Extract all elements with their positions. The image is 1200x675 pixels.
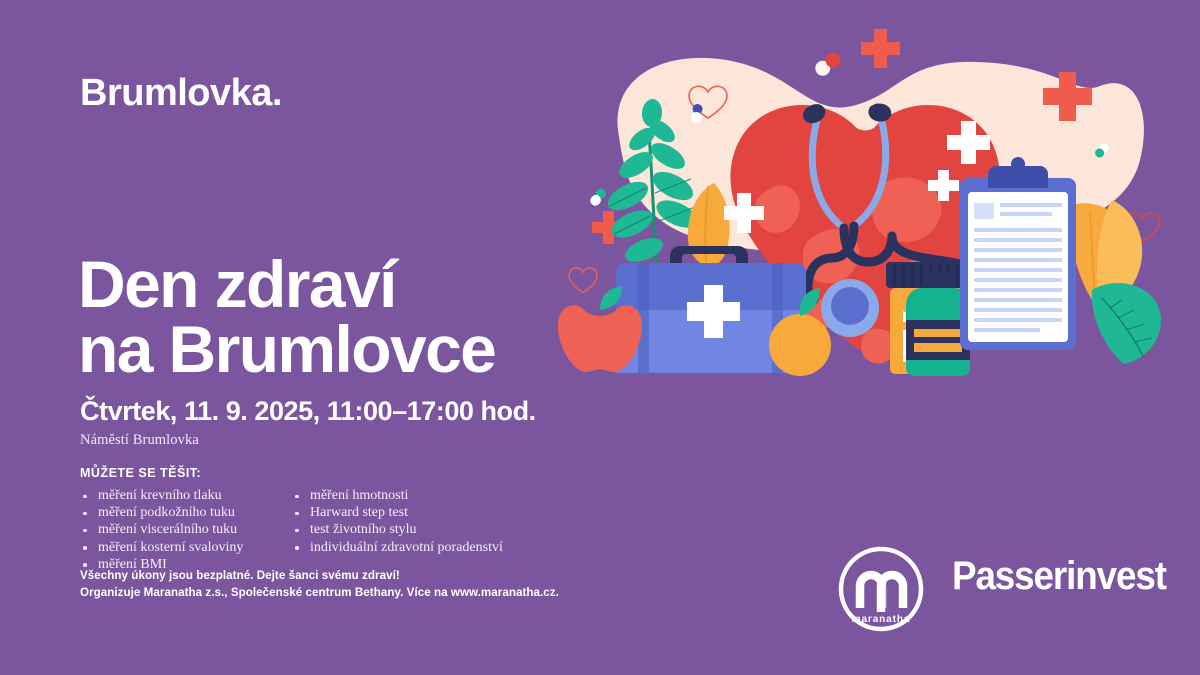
list-item: Harward step test [292,505,512,521]
decor-red-cross-top [861,29,900,68]
offer-item-label: měření kosterní svaloviny [98,540,243,555]
offer-item-label: individuální zdravotní poradenství [310,540,503,555]
event-datetime: Čtvrtek, 11. 9. 2025, 11:00–17:00 hod. [80,396,536,427]
event-venue: Náměstí Brumlovka [80,432,199,449]
clipboard [960,157,1076,350]
page-title: Den zdraví na Brumlovce [78,252,495,383]
offer-item-label: Harward step test [310,505,408,520]
health-day-illustration [556,0,1200,400]
offer-item-label: měření podkožního tuku [98,505,235,520]
list-item: měření podkožního tuku [80,505,295,521]
brumlovka-logo: Brumlovka. [80,74,282,112]
decor-heart-outline-bottomleft [569,268,597,293]
offer-item-label: měření hmotnosti [310,488,408,503]
footnote-text: Všechny úkony jsou bezplatné. Dejte šanc… [80,568,559,601]
list-item: individuální zdravotní poradenství [292,540,512,556]
offer-item-label: měření krevního tlaku [98,488,222,503]
passerinvest-logo: Passerinvest [952,554,1166,599]
offer-list-right: měření hmotnosti Harward step test test … [292,488,512,557]
maranatha-wordmark: maranatha [828,614,934,625]
decor-capsule-green-left [588,187,608,208]
offer-item-label: měření viscerálního tuku [98,522,237,537]
list-item: měření krevního tlaku [80,488,295,504]
offer-list-left: měření krevního tlaku měření podkožního … [80,488,295,574]
offer-item-label: test životního stylu [310,522,417,537]
poster-canvas: Brumlovka. [0,0,1200,675]
decor-capsule-top [812,50,843,79]
list-item: test životního stylu [292,522,512,538]
list-item: měření kosterní svaloviny [80,540,295,556]
list-item: měření viscerálního tuku [80,522,295,538]
offer-section-title: MŮŽETE SE TĚŠIT: [80,466,201,480]
green-leaf-right [1092,283,1161,364]
list-item: měření hmotnosti [292,488,512,504]
